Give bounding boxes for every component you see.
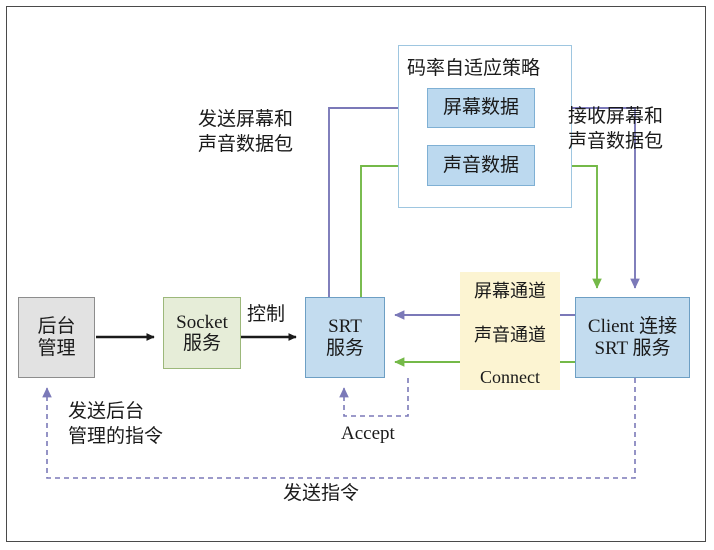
node-backend-management-line1: 后台 — [37, 316, 75, 337]
node-socket-service-line1: Socket — [176, 312, 228, 333]
node-audio-data[interactable]: 声音数据 — [427, 145, 535, 186]
label-send-command: 发送指令 — [283, 482, 359, 507]
node-screen-data[interactable]: 屏幕数据 — [427, 88, 535, 128]
node-client-line2: SRT 服务 — [594, 338, 670, 359]
diagram-outer-frame — [6, 6, 706, 542]
label-backend-command: 发送后台 管理的指令 — [68, 400, 163, 449]
channel-legend-box: 屏幕通道 声音通道 Connect — [460, 272, 560, 390]
label-send-packets-line2: 声音数据包 — [198, 133, 293, 158]
node-srt-service[interactable]: SRT 服务 — [305, 297, 385, 378]
node-socket-service-line2: 服务 — [183, 333, 221, 354]
label-receive-packets-line1: 接收屏幕和 — [568, 105, 663, 130]
node-audio-data-label: 声音数据 — [443, 155, 519, 176]
label-control: 控制 — [247, 303, 285, 328]
label-screen-channel: 屏幕通道 — [460, 277, 560, 303]
node-client-line1: Client 连接 — [588, 316, 677, 337]
node-srt-service-line2: 服务 — [326, 338, 364, 359]
node-backend-management[interactable]: 后台 管理 — [18, 297, 95, 378]
node-srt-service-line1: SRT — [328, 316, 362, 337]
node-client-connect-srt-service[interactable]: Client 连接 SRT 服务 — [575, 297, 690, 378]
diagram-canvas: 后台 管理 Socket 服务 SRT 服务 Client 连接 SRT 服务 … — [0, 0, 714, 550]
label-receive-packets: 接收屏幕和 声音数据包 — [568, 105, 663, 154]
label-send-packets: 发送屏幕和 声音数据包 — [198, 108, 293, 157]
label-receive-packets-line2: 声音数据包 — [568, 130, 663, 155]
node-screen-data-label: 屏幕数据 — [443, 97, 519, 118]
label-accept: Accept — [341, 422, 395, 447]
label-backend-command-line1: 发送后台 — [68, 400, 163, 425]
node-backend-management-line2: 管理 — [37, 338, 75, 359]
label-audio-channel: 声音通道 — [460, 321, 560, 347]
label-send-packets-line1: 发送屏幕和 — [198, 108, 293, 133]
node-socket-service[interactable]: Socket 服务 — [163, 297, 241, 369]
label-connect: Connect — [460, 367, 560, 388]
label-backend-command-line2: 管理的指令 — [68, 425, 163, 450]
group-bitrate-adaptive-strategy-title: 码率自适应策略 — [407, 53, 540, 80]
